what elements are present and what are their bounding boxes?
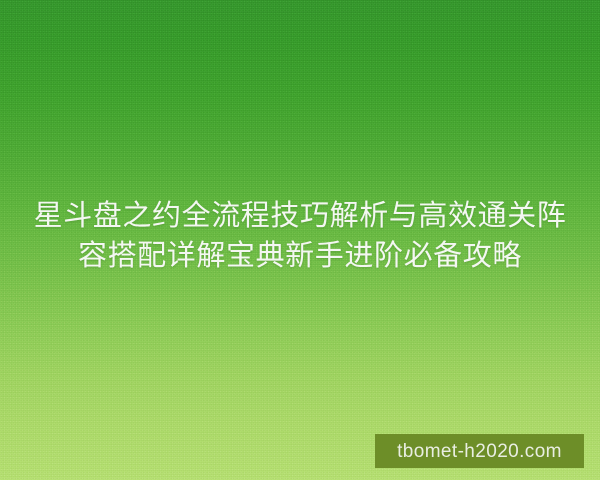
page-title: 星斗盘之约全流程技巧解析与高效通关阵 容搭配详解宝典新手进阶必备攻略 <box>0 196 600 276</box>
page-title-line-2: 容搭配详解宝典新手进阶必备攻略 <box>78 236 522 276</box>
watermark-badge: tbomet-h2020.com <box>375 434 584 468</box>
article-cover-card: 星斗盘之约全流程技巧解析与高效通关阵 容搭配详解宝典新手进阶必备攻略 tbome… <box>0 0 600 480</box>
watermark-site-label: tbomet-h2020.com <box>397 442 562 461</box>
page-title-line-1: 星斗盘之约全流程技巧解析与高效通关阵 <box>34 196 567 236</box>
